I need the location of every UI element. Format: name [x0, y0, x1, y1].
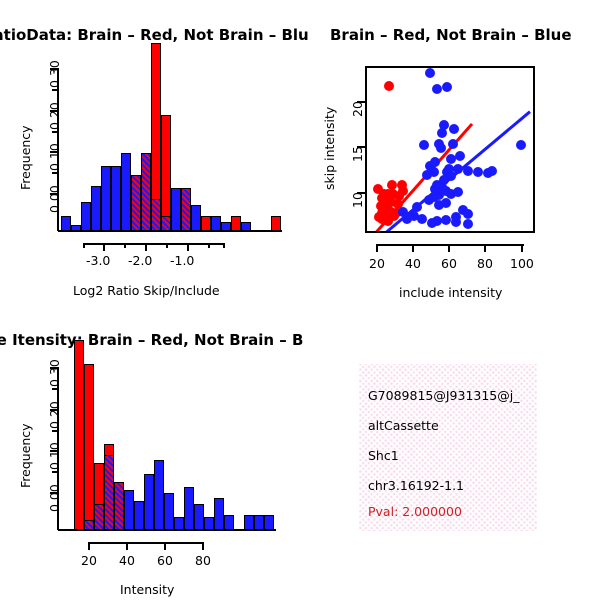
intensity-x-tick-40 — [126, 542, 128, 550]
ratio-x-tick-m35 — [83, 243, 85, 248]
intensity-y-tick-015 — [52, 430, 57, 432]
scatter-point-blue — [455, 151, 465, 161]
ratio-x-tick-m20 — [145, 243, 147, 251]
scatter-point-blue — [412, 202, 422, 212]
scatter-xlabel: include intensity — [399, 285, 502, 300]
ratio-x-tick-m30 — [103, 243, 105, 251]
bar-blue — [194, 504, 204, 531]
intensity-x-ticklabel-20: 20 — [81, 553, 97, 568]
scatter-point-red — [381, 206, 391, 216]
intensity-x-ticklabel-80: 80 — [195, 553, 211, 568]
bar-blue — [171, 188, 181, 232]
ratio-x-ticklabel-m30: -3.0 — [86, 253, 110, 268]
intensity-y-tick-005 — [52, 471, 57, 473]
bar-red — [74, 340, 84, 531]
scatter-point-blue — [434, 200, 444, 210]
ratio-x-tick-m10 — [187, 243, 189, 251]
intensity-x-ticklabel-60: 60 — [157, 553, 173, 568]
info-line-event-type: altCassette — [368, 418, 439, 433]
scatter-point-blue — [441, 215, 451, 225]
scatter-point-blue — [424, 195, 434, 205]
scatter-y-ticklabel-15: 15 — [350, 146, 365, 162]
event-info-panel: G7089815@J931315@j_ altCassette Shc1 chr… — [359, 364, 537, 531]
scatter-point-blue — [417, 214, 427, 224]
scatter-x-tick-60 — [448, 244, 450, 252]
info-line-id: G7089815@J931315@j_ — [368, 388, 519, 403]
ratio-x-tick-m05 — [208, 243, 210, 248]
scatter-x-tick-80 — [484, 244, 486, 252]
ratio-histogram-title: RatioData: Brain – Red, Not Brain – Blu — [0, 26, 309, 44]
intensity-y-ticklabel-000: 0.00 — [47, 484, 62, 512]
bar-overlap — [141, 153, 151, 232]
scatter-x-ticklabel-20: 20 — [369, 256, 385, 271]
scatter-title: Brain – Red, Not Brain – Blue — [330, 26, 572, 44]
ratio-y-ticklabel-000: 0.00 — [47, 185, 62, 213]
scatter-x-tick-100 — [521, 244, 523, 252]
bar-blue — [184, 487, 194, 531]
scatter-x-tick-20 — [376, 244, 378, 252]
ratio-x-ticklabel-m10: -1.0 — [170, 253, 194, 268]
scatter-point-blue — [398, 207, 408, 217]
info-line-pval: Pval: 2.000000 — [368, 504, 462, 519]
bar-blue — [144, 474, 154, 531]
ratio-x-tick-end — [223, 243, 225, 248]
ratio-x-ticklabel-m20: -2.0 — [128, 253, 152, 268]
ratio-x-tick-m15 — [166, 243, 168, 248]
intensity-y-ticklabel-010: 0.10 — [47, 442, 62, 470]
intensity-x-tick-80 — [202, 542, 204, 550]
scatter-point-red — [384, 81, 394, 91]
ratio-y-ticklabel-030: 0.30 — [47, 60, 62, 88]
scatter-point-blue — [449, 124, 459, 134]
scatter-data-area — [367, 68, 533, 231]
scatter-y-ticklabel-20: 20 — [350, 101, 365, 117]
scatter-point-red — [398, 186, 408, 196]
bar-blue — [91, 186, 101, 233]
intensity-histogram-title: ne Itensity: Brain – Red, Not Brain – B — [0, 331, 303, 349]
scatter-point-blue — [442, 82, 452, 92]
bar-blue — [81, 202, 91, 232]
bar-red — [161, 115, 171, 233]
scatter-point-blue — [419, 140, 429, 150]
bar-blue — [191, 205, 201, 232]
scatter-x-ticklabel-80: 80 — [477, 256, 493, 271]
scatter-point-blue — [463, 166, 473, 176]
scatter-y-ticklabel-10: 10 — [350, 192, 365, 208]
panel-intensity-histogram: ne Itensity: Brain – Red, Not Brain – B … — [0, 310, 300, 600]
bar-overlap — [94, 504, 104, 531]
bar-blue — [151, 199, 161, 232]
intensity-histogram-baseline — [58, 529, 276, 531]
bar-overlap — [114, 482, 124, 531]
scatter-point-blue — [425, 68, 435, 78]
ratio-y-tick-005 — [52, 172, 57, 174]
scatter-point-blue — [451, 217, 461, 227]
scatter-point-blue — [463, 219, 473, 229]
intensity-x-ticklabel-40: 40 — [119, 553, 135, 568]
bar-blue — [121, 153, 131, 232]
bar-blue — [214, 498, 224, 531]
scatter-x-tick-40 — [412, 244, 414, 252]
intensity-x-tick-20 — [88, 542, 90, 550]
scatter-x-ticklabel-40: 40 — [405, 256, 421, 271]
bar-overlap — [104, 455, 114, 532]
intensity-y-tick-025 — [52, 388, 57, 390]
panel-intensity-scatter: Brain – Red, Not Brain – Blue skip inten… — [300, 0, 600, 310]
ratio-y-ticklabel-010: 0.10 — [47, 143, 62, 171]
ratio-histogram-baseline — [58, 230, 282, 232]
scatter-point-red — [386, 197, 396, 207]
bar-blue — [154, 460, 164, 531]
intensity-x-tick-60 — [164, 542, 166, 550]
bar-blue — [164, 493, 174, 531]
ratio-y-tick-015 — [52, 131, 57, 133]
bar-overlap — [181, 188, 191, 232]
intensity-y-ticklabel-020: 0.20 — [47, 401, 62, 429]
scatter-point-blue — [448, 139, 458, 149]
scatter-x-ticklabel-60: 60 — [441, 256, 457, 271]
scatter-point-blue — [437, 128, 447, 138]
bar-overlap — [131, 175, 141, 232]
bar-blue — [134, 501, 144, 531]
intensity-histogram-xaxis — [88, 542, 203, 544]
panel-ratio-histogram: RatioData: Brain – Red, Not Brain – Blu … — [0, 0, 300, 310]
scatter-point-blue — [427, 218, 437, 228]
scatter-point-blue — [463, 209, 473, 219]
ratio-y-tick-025 — [52, 89, 57, 91]
scatter-point-blue — [487, 166, 497, 176]
scatter-point-blue — [432, 84, 442, 94]
intensity-histogram-xlabel: Intensity — [120, 582, 174, 597]
intensity-y-ticklabel-030: 0.30 — [47, 359, 62, 387]
scatter-point-blue — [473, 167, 483, 177]
info-line-locus: chr3.16192-1.1 — [368, 478, 464, 493]
bar-blue — [111, 166, 121, 232]
scatter-ylabel: skip intensity — [322, 107, 337, 190]
ratio-histogram-ylabel: Frequency — [18, 125, 33, 190]
bar-blue — [101, 166, 111, 232]
ratio-histogram-xlabel: Log2 Ratio Skip/Include — [73, 283, 220, 298]
info-line-gene: Shc1 — [368, 448, 399, 463]
scatter-point-blue — [436, 143, 446, 153]
bar-blue — [124, 490, 134, 531]
scatter-point-blue — [429, 167, 439, 177]
bar-red — [84, 364, 94, 531]
ratio-y-ticklabel-020: 0.20 — [47, 102, 62, 130]
scatter-point-blue — [516, 140, 526, 150]
intensity-histogram-ylabel: Frequency — [18, 423, 33, 488]
scatter-x-ticklabel-100: 100 — [510, 256, 534, 271]
ratio-x-tick-m25 — [124, 243, 126, 248]
